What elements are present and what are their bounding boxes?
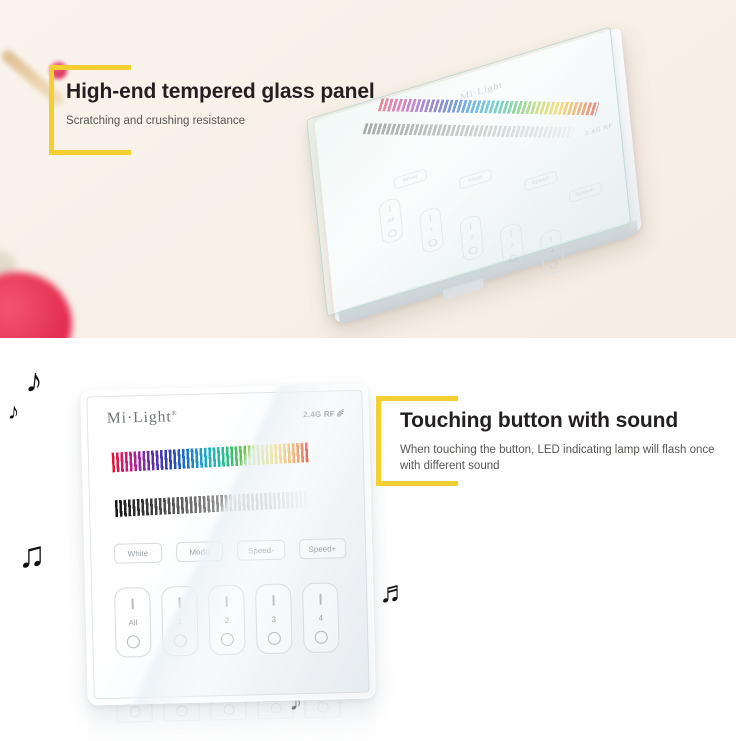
tilted-panel-group: Mi·Light 2.4G RF White Mode Speed- Speed…: [314, 27, 641, 323]
zone-label-4: 4: [318, 614, 323, 623]
tempered-glass-sheet: [306, 27, 631, 317]
color-spectrum-slider[interactable]: [111, 442, 310, 472]
headline-top: High-end tempered glass panel: [66, 80, 375, 104]
power-off-icon[interactable]: [268, 632, 281, 645]
zone-button-row: All 1 2 3: [114, 582, 354, 658]
power-on-icon[interactable]: [225, 596, 227, 607]
zone-button-2[interactable]: 2: [208, 585, 246, 656]
brand-logo: Mi·Light®: [107, 408, 178, 428]
zone-button-1[interactable]: 1: [161, 586, 199, 657]
zone-button-all[interactable]: All: [114, 587, 152, 658]
panel-face: Mi·Light® 2.4G RF White Mode Speed-: [80, 384, 376, 706]
power-on-icon[interactable]: [272, 595, 274, 606]
power-off-icon[interactable]: [221, 633, 234, 646]
button-speed-down[interactable]: Speed-: [237, 540, 285, 561]
wireless-signal-icon: [336, 408, 346, 418]
power-off-icon[interactable]: [127, 635, 140, 648]
zone-label-3: 3: [272, 615, 277, 624]
brand-registered-mark: ®: [172, 410, 178, 417]
button-mode[interactable]: Mode: [175, 541, 223, 562]
feature-section-glass-panel: Mi·Light 2.4G RF White Mode Speed- Speed…: [0, 0, 736, 338]
power-on-icon[interactable]: [131, 598, 133, 609]
zone-label-2: 2: [225, 616, 230, 625]
zone-button-4[interactable]: 4: [302, 582, 340, 653]
music-note-icon-2: ♪: [7, 400, 20, 424]
subline-bottom: When touching the button, LED indicating…: [400, 442, 718, 475]
power-off-icon[interactable]: [315, 631, 328, 644]
subline-top: Scratching and crushing resistance: [66, 113, 375, 129]
power-on-icon[interactable]: [319, 594, 321, 605]
led-controller-panel: Mi·Light® 2.4G RF White Mode Speed-: [80, 384, 376, 706]
music-note-icon-4: ♬: [379, 578, 409, 608]
zone-label-1: 1: [178, 617, 183, 626]
function-button-row: White Mode Speed- Speed+: [114, 538, 346, 564]
zone-label-all: All: [128, 618, 137, 627]
rf-label: 2.4G RF: [303, 409, 335, 419]
headline-block-top: High-end tempered glass panel Scratching…: [66, 80, 375, 129]
zone-button-3[interactable]: 3: [255, 583, 293, 654]
rf-badge: 2.4G RF: [303, 408, 346, 419]
blurred-prop-pink-circle: [0, 272, 72, 338]
power-off-icon[interactable]: [174, 634, 187, 647]
brightness-slider[interactable]: [115, 491, 310, 517]
headline-block-bottom: Touching button with sound When touching…: [400, 409, 718, 475]
music-note-icon-1: ♪: [24, 363, 44, 399]
button-white[interactable]: White: [114, 543, 162, 564]
feature-section-touch-sound: ♪ ♪ ♫ ♬ ♪ Mi·Light® 2.4G RF: [0, 338, 736, 741]
music-note-icon-3: ♫: [18, 536, 46, 573]
brand-name: Mi·Light: [107, 408, 172, 427]
headline-bottom: Touching button with sound: [400, 409, 718, 433]
button-speed-up[interactable]: Speed+: [298, 538, 346, 559]
product-feature-page: Mi·Light 2.4G RF White Mode Speed- Speed…: [0, 0, 736, 741]
power-on-icon[interactable]: [178, 597, 180, 608]
